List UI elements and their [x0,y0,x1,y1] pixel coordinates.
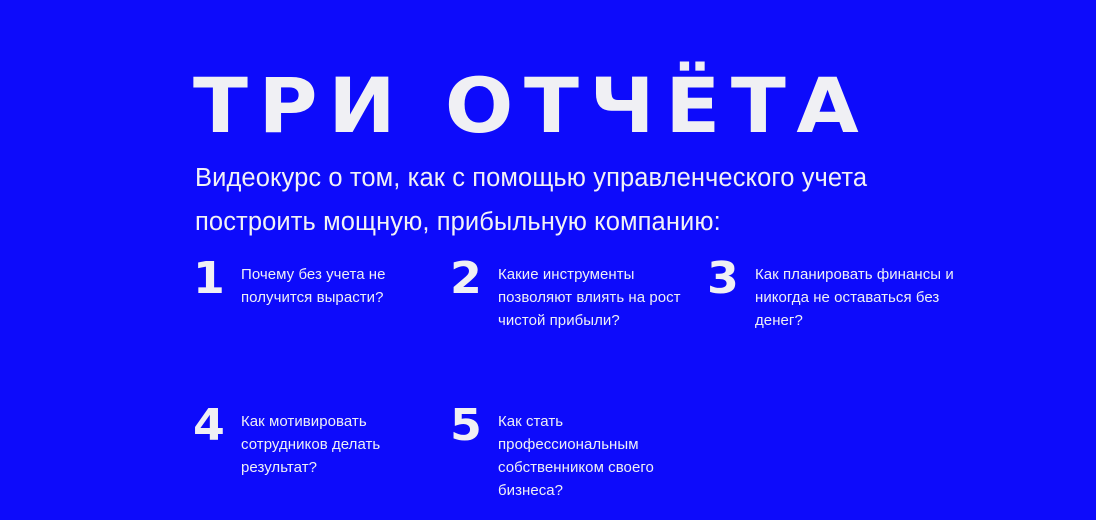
list-item-label: Как мотивировать сотрудников делать резу… [241,405,441,479]
list-item-number: 1 [193,258,243,299]
page-title: ТРИ ОТЧЁТА [193,63,935,149]
list-item: 3 Как планировать финансы и никогда не о… [707,258,964,405]
list-item: 5 Как стать профессиональным собственник… [450,405,707,502]
list-item-label: Какие инструменты позволяют влиять на ро… [498,258,698,332]
list-item-number: 5 [450,405,500,446]
list-item: 2 Какие инструменты позволяют влиять на … [450,258,707,405]
hero-section: ТРИ ОТЧЁТА Видеокурс о том, как с помощь… [0,0,1096,520]
list-item-label: Почему без учета не получится вырасти? [241,258,441,309]
list-item-label: Как стать профессиональным собственником… [498,405,698,502]
list-item: 1 Почему без учета не получится вырасти? [193,258,450,405]
list-item-number: 3 [707,258,757,299]
list-item-number: 2 [450,258,500,299]
list-item-number: 4 [193,405,243,446]
hero-subtitle: Видеокурс о том, как с помощью управленч… [195,156,935,244]
list-item-label: Как планировать финансы и никогда не ост… [755,258,955,332]
course-topics-list: 1 Почему без учета не получится вырасти?… [193,258,1053,502]
list-item: 4 Как мотивировать сотрудников делать ре… [193,405,450,502]
